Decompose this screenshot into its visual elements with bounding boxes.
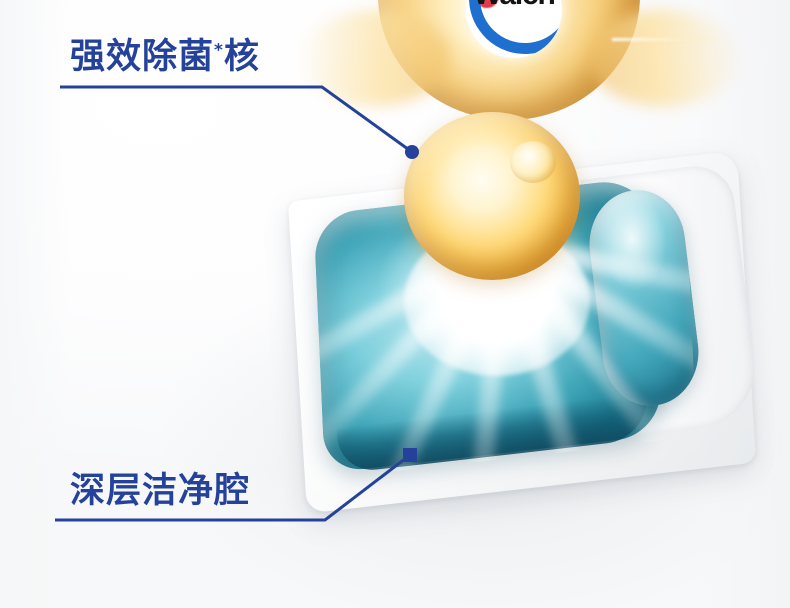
logo-wordmark: Walch: [466, 0, 562, 12]
golden-disinfectant-core: [404, 112, 580, 280]
flare-spark: [612, 38, 722, 41]
callout-top-suffix: 核: [224, 37, 260, 77]
callout-top-superscript: *: [214, 40, 224, 60]
callout-bottom-main: 深层洁净腔: [70, 471, 250, 511]
callout-label-top: 强效除菌*核: [70, 28, 260, 79]
callout-label-bottom: 深层洁净腔: [70, 462, 250, 513]
product-feature-illustration: Walch 强效除菌*核 深层洁净腔: [0, 0, 790, 608]
product-artwork: Walch: [0, 0, 790, 608]
golden-core-highlight-bubble: [510, 141, 556, 183]
flare-left: [300, 10, 450, 106]
flare-right: [588, 10, 738, 106]
callout-top-main: 强效除菌: [70, 37, 214, 77]
